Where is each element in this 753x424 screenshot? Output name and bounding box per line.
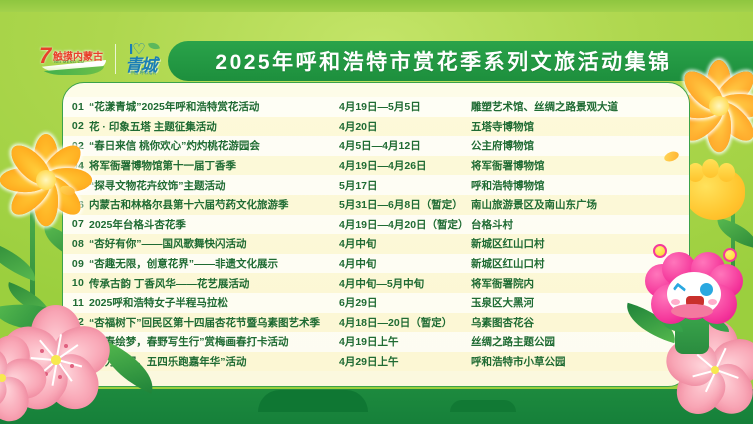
row-date: 4月20日 <box>339 119 471 134</box>
row-activity: 传承古韵 丁香风华——花艺展活动 <box>89 276 339 291</box>
row-activity: “活力赛罕，五四乐跑嘉年华”活动 <box>89 354 339 369</box>
title-bar: 2025年呼和浩特市赏花季系列文旅活动集锦 <box>168 41 753 81</box>
row-activity: “探寻文物花卉纹饰”主题活动 <box>89 178 339 193</box>
row-location: 台格斗村 <box>471 217 689 232</box>
row-number: 08 <box>63 238 89 250</box>
row-activity: “杏好有你”——国风歌舞快闪活动 <box>89 236 339 251</box>
row-location: 公主府博物馆 <box>471 138 689 153</box>
row-location: 雕塑艺术馆、丝绸之路景观大道 <box>471 99 689 114</box>
row-activity: 花 · 印象五塔 主题征集活动 <box>89 119 339 134</box>
row-date: 4月29日上午 <box>339 354 471 369</box>
row-date: 4月18日—20日（暂定） <box>339 315 471 330</box>
poster-stage: 7 触摸内蒙古 NEI MENG GU I♡ 青城 中国·呼和浩特 2025年呼… <box>0 0 753 424</box>
row-date: 6月29日 <box>339 295 471 310</box>
top-strip <box>0 0 753 12</box>
row-location: 将军衙署博物馆 <box>471 158 689 173</box>
table-row: 08“杏好有你”——国风歌舞快闪活动4月中旬新城区红山口村 <box>63 234 689 254</box>
table-row: 072025年台格斗杏花季4月19日—4月20日（暂定）台格斗村 <box>63 215 689 235</box>
hill-shape-2 <box>450 400 516 412</box>
row-number: 04 <box>63 160 89 172</box>
table-row: 05“探寻文物花卉纹饰”主题活动5月17日呼和浩特博物馆 <box>63 175 689 195</box>
row-activity: “青春绘梦，春野写生行”赏梅画春打卡活动 <box>89 334 339 349</box>
row-number: 11 <box>63 297 89 309</box>
row-location: 南山旅游景区及南山东广场 <box>471 197 689 212</box>
row-activity: “花漾青城”2025年呼和浩特赏花活动 <box>89 99 339 114</box>
table-row: 01“花漾青城”2025年呼和浩特赏花活动4月19日—5月5日雕塑艺术馆、丝绸之… <box>63 97 689 117</box>
row-date: 4月5日—4月12日 <box>339 138 471 153</box>
logo-right-subtitle: 中国·呼和浩特 <box>130 70 157 76</box>
row-number: 02 <box>63 140 89 152</box>
row-number: 13 <box>63 336 89 348</box>
row-number: 01 <box>63 101 89 113</box>
row-activity: 内蒙古和林格尔县第十六届芍药文化旅游季 <box>89 197 339 212</box>
row-date: 4月19日—5月5日 <box>339 99 471 114</box>
mascot-cheek-left <box>671 299 680 305</box>
row-date: 4月19日上午 <box>339 334 471 349</box>
activity-card: 01“花漾青城”2025年呼和浩特赏花活动4月19日—5月5日雕塑艺术馆、丝绸之… <box>62 82 690 387</box>
row-date: 5月31日—6月8日（暂定） <box>339 197 471 212</box>
logo-group: 7 触摸内蒙古 NEI MENG GU I♡ 青城 中国·呼和浩特 <box>36 40 175 78</box>
logo-left-subtitle: NEI MENG GU <box>54 59 84 64</box>
row-date: 4月中旬—5月中旬 <box>339 276 471 291</box>
row-number: 02 <box>63 120 89 132</box>
table-row: 10传承古韵 丁香风华——花艺展活动4月中旬—5月中旬将军衙署院内 <box>63 273 689 293</box>
leaf-icon <box>148 41 160 52</box>
logo-numeral: 7 <box>39 45 51 67</box>
row-date: 4月中旬 <box>339 236 471 251</box>
row-activity: “春日来信 桃你欢心”灼灼桃花游园会 <box>89 138 339 153</box>
row-number: 06 <box>63 199 89 211</box>
table-row: 112025呼和浩特女子半程马拉松6月29日玉泉区大黑河 <box>63 293 689 313</box>
row-number: 14 <box>63 356 89 368</box>
table-row: 12“杏福树下”回民区第十四届杏花节暨乌素图艺术季4月18日—20日（暂定）乌素… <box>63 313 689 333</box>
row-number: 12 <box>63 316 89 328</box>
row-date: 4月中旬 <box>339 256 471 271</box>
row-date: 4月19日—4月26日 <box>339 158 471 173</box>
flower-mascot <box>641 244 747 362</box>
row-date: 4月19日—4月20日（暂定） <box>339 217 471 232</box>
logo-touch-innermongolia: 7 触摸内蒙古 NEI MENG GU <box>36 42 108 76</box>
row-number: 10 <box>63 277 89 289</box>
table-row: 04将军衙署博物馆第十一届丁香季4月19日—4月26日将军衙署博物馆 <box>63 156 689 176</box>
row-number: 07 <box>63 218 89 230</box>
row-date: 5月17日 <box>339 178 471 193</box>
table-row: 06内蒙古和林格尔县第十六届芍药文化旅游季5月31日—6月8日（暂定）南山旅游景… <box>63 195 689 215</box>
table-row: 13“青春绘梦，春野写生行”赏梅画春打卡活动4月19日上午丝绸之路主题公园 <box>63 332 689 352</box>
table-row: 09“杏趣无限，创意花界”——非遗文化展示4月中旬新城区红山口村 <box>63 254 689 274</box>
row-location: 五塔寺博物馆 <box>471 119 689 134</box>
page-title: 2025年呼和浩特市赏花季系列文旅活动集锦 <box>215 46 671 76</box>
mascot-head <box>645 250 743 330</box>
mascot-eye-wink <box>673 282 687 295</box>
mascot-bow <box>671 304 713 318</box>
row-activity: 2025呼和浩特女子半程马拉松 <box>89 295 339 310</box>
mascot-cheek-right <box>708 299 717 305</box>
row-activity: “杏福树下”回民区第十四届杏花节暨乌素图艺术季 <box>89 315 339 330</box>
row-number: 05 <box>63 179 89 191</box>
table-row: 02花 · 印象五塔 主题征集活动4月20日五塔寺博物馆 <box>63 117 689 137</box>
row-activity: “杏趣无限，创意花界”——非遗文化展示 <box>89 256 339 271</box>
hill-shape-1 <box>258 390 368 412</box>
table-row: 14“活力赛罕，五四乐跑嘉年华”活动4月29日上午呼和浩特市小草公园 <box>63 352 689 372</box>
bottom-green-band <box>0 389 753 424</box>
row-activity: 2025年台格斗杏花季 <box>89 217 339 232</box>
logo-divider <box>115 44 116 74</box>
row-location: 呼和浩特博物馆 <box>471 178 689 193</box>
mascot-eye-open <box>700 283 713 296</box>
row-activity: 将军衙署博物馆第十一届丁香季 <box>89 158 339 173</box>
row-number: 09 <box>63 258 89 270</box>
table-row: 02“春日来信 桃你欢心”灼灼桃花游园会4月5日—4月12日公主府博物馆 <box>63 136 689 156</box>
poster-header: 7 触摸内蒙古 NEI MENG GU I♡ 青城 中国·呼和浩特 2025年呼… <box>0 18 753 74</box>
activity-table: 01“花漾青城”2025年呼和浩特赏花活动4月19日—5月5日雕塑艺术馆、丝绸之… <box>63 83 689 371</box>
